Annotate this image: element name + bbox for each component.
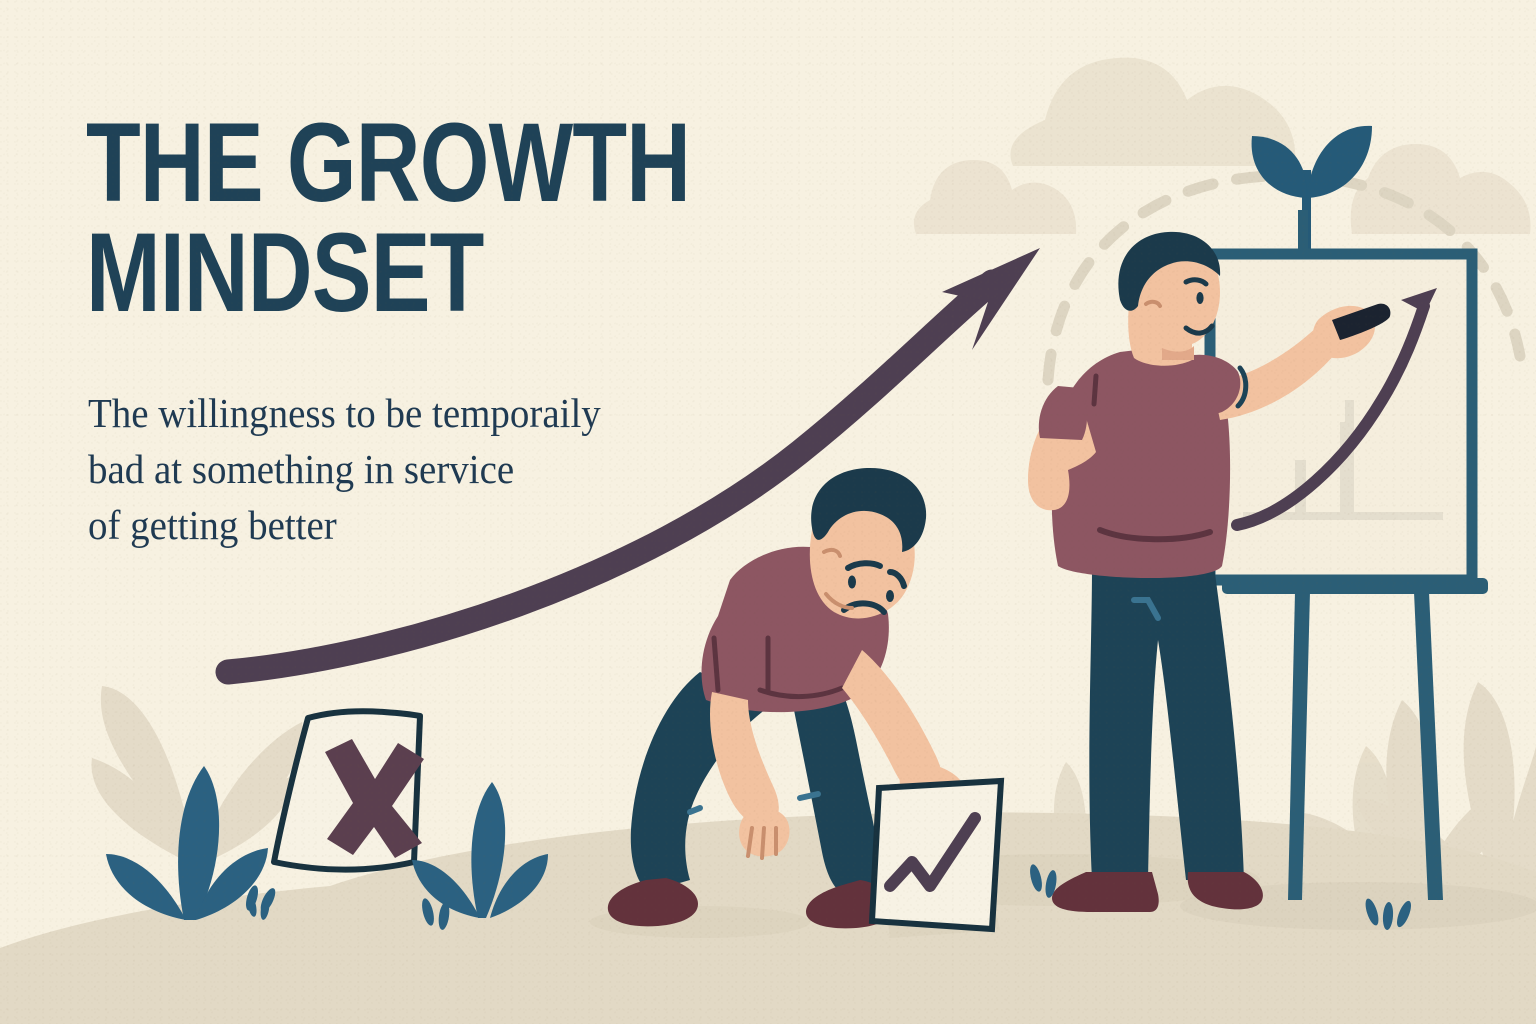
confident-man-shirt-fold xyxy=(1094,376,1096,404)
line-chart-paper-fill xyxy=(872,781,1001,929)
discouraged-man-pants-crease-2 xyxy=(690,808,700,812)
illustration xyxy=(0,0,1536,1024)
confident-man-eye xyxy=(1196,292,1203,304)
discouraged-man-eye-right xyxy=(886,590,894,602)
poster-canvas: THE GROWTH MINDSET The willingness to be… xyxy=(0,0,1536,1024)
board-bar-3 xyxy=(1345,400,1354,518)
discouraged-man-eye-left xyxy=(848,576,856,589)
whiteboard-fill xyxy=(1210,254,1472,580)
line-chart-paper xyxy=(872,781,1001,938)
discouraged-man-pants-crease xyxy=(800,794,818,798)
easel-tray xyxy=(1222,578,1488,594)
